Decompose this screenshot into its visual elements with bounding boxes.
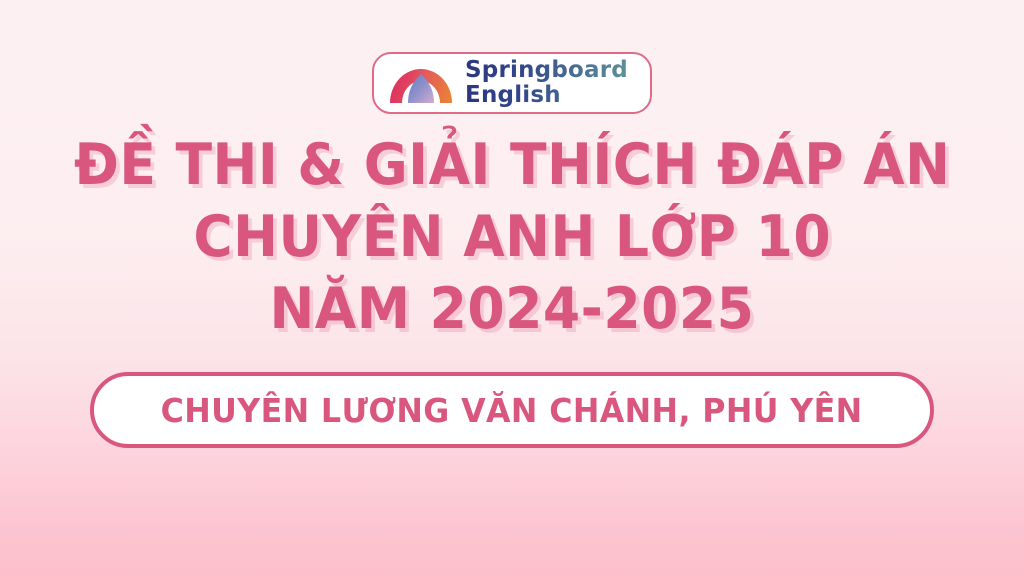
- school-name-pill: CHUYÊN LƯƠNG VĂN CHÁNH, PHÚ YÊN: [90, 372, 933, 448]
- wordmark-line-english: English: [465, 84, 628, 107]
- headline-line-2: CHUYÊN ANH LỚP 10: [193, 208, 831, 266]
- school-name-label: CHUYÊN LƯƠNG VĂN CHÁNH, PHÚ YÊN: [161, 391, 863, 430]
- rainbow-arch-icon: [388, 61, 454, 105]
- wordmark-line-springboard: Springboard: [465, 59, 628, 82]
- headline-block: ĐỀ THI & GIẢI THÍCH ĐÁP ÁN CHUYÊN ANH LỚ…: [0, 136, 1024, 338]
- brand-logo-badge: Springboard English: [372, 52, 652, 114]
- headline-line-1: ĐỀ THI & GIẢI THÍCH ĐÁP ÁN: [74, 136, 950, 194]
- headline-line-3: NĂM 2024-2025: [270, 280, 755, 338]
- thumbnail-slide: Springboard English ĐỀ THI & GIẢI THÍCH …: [0, 0, 1024, 576]
- brand-wordmark: Springboard English: [465, 59, 628, 107]
